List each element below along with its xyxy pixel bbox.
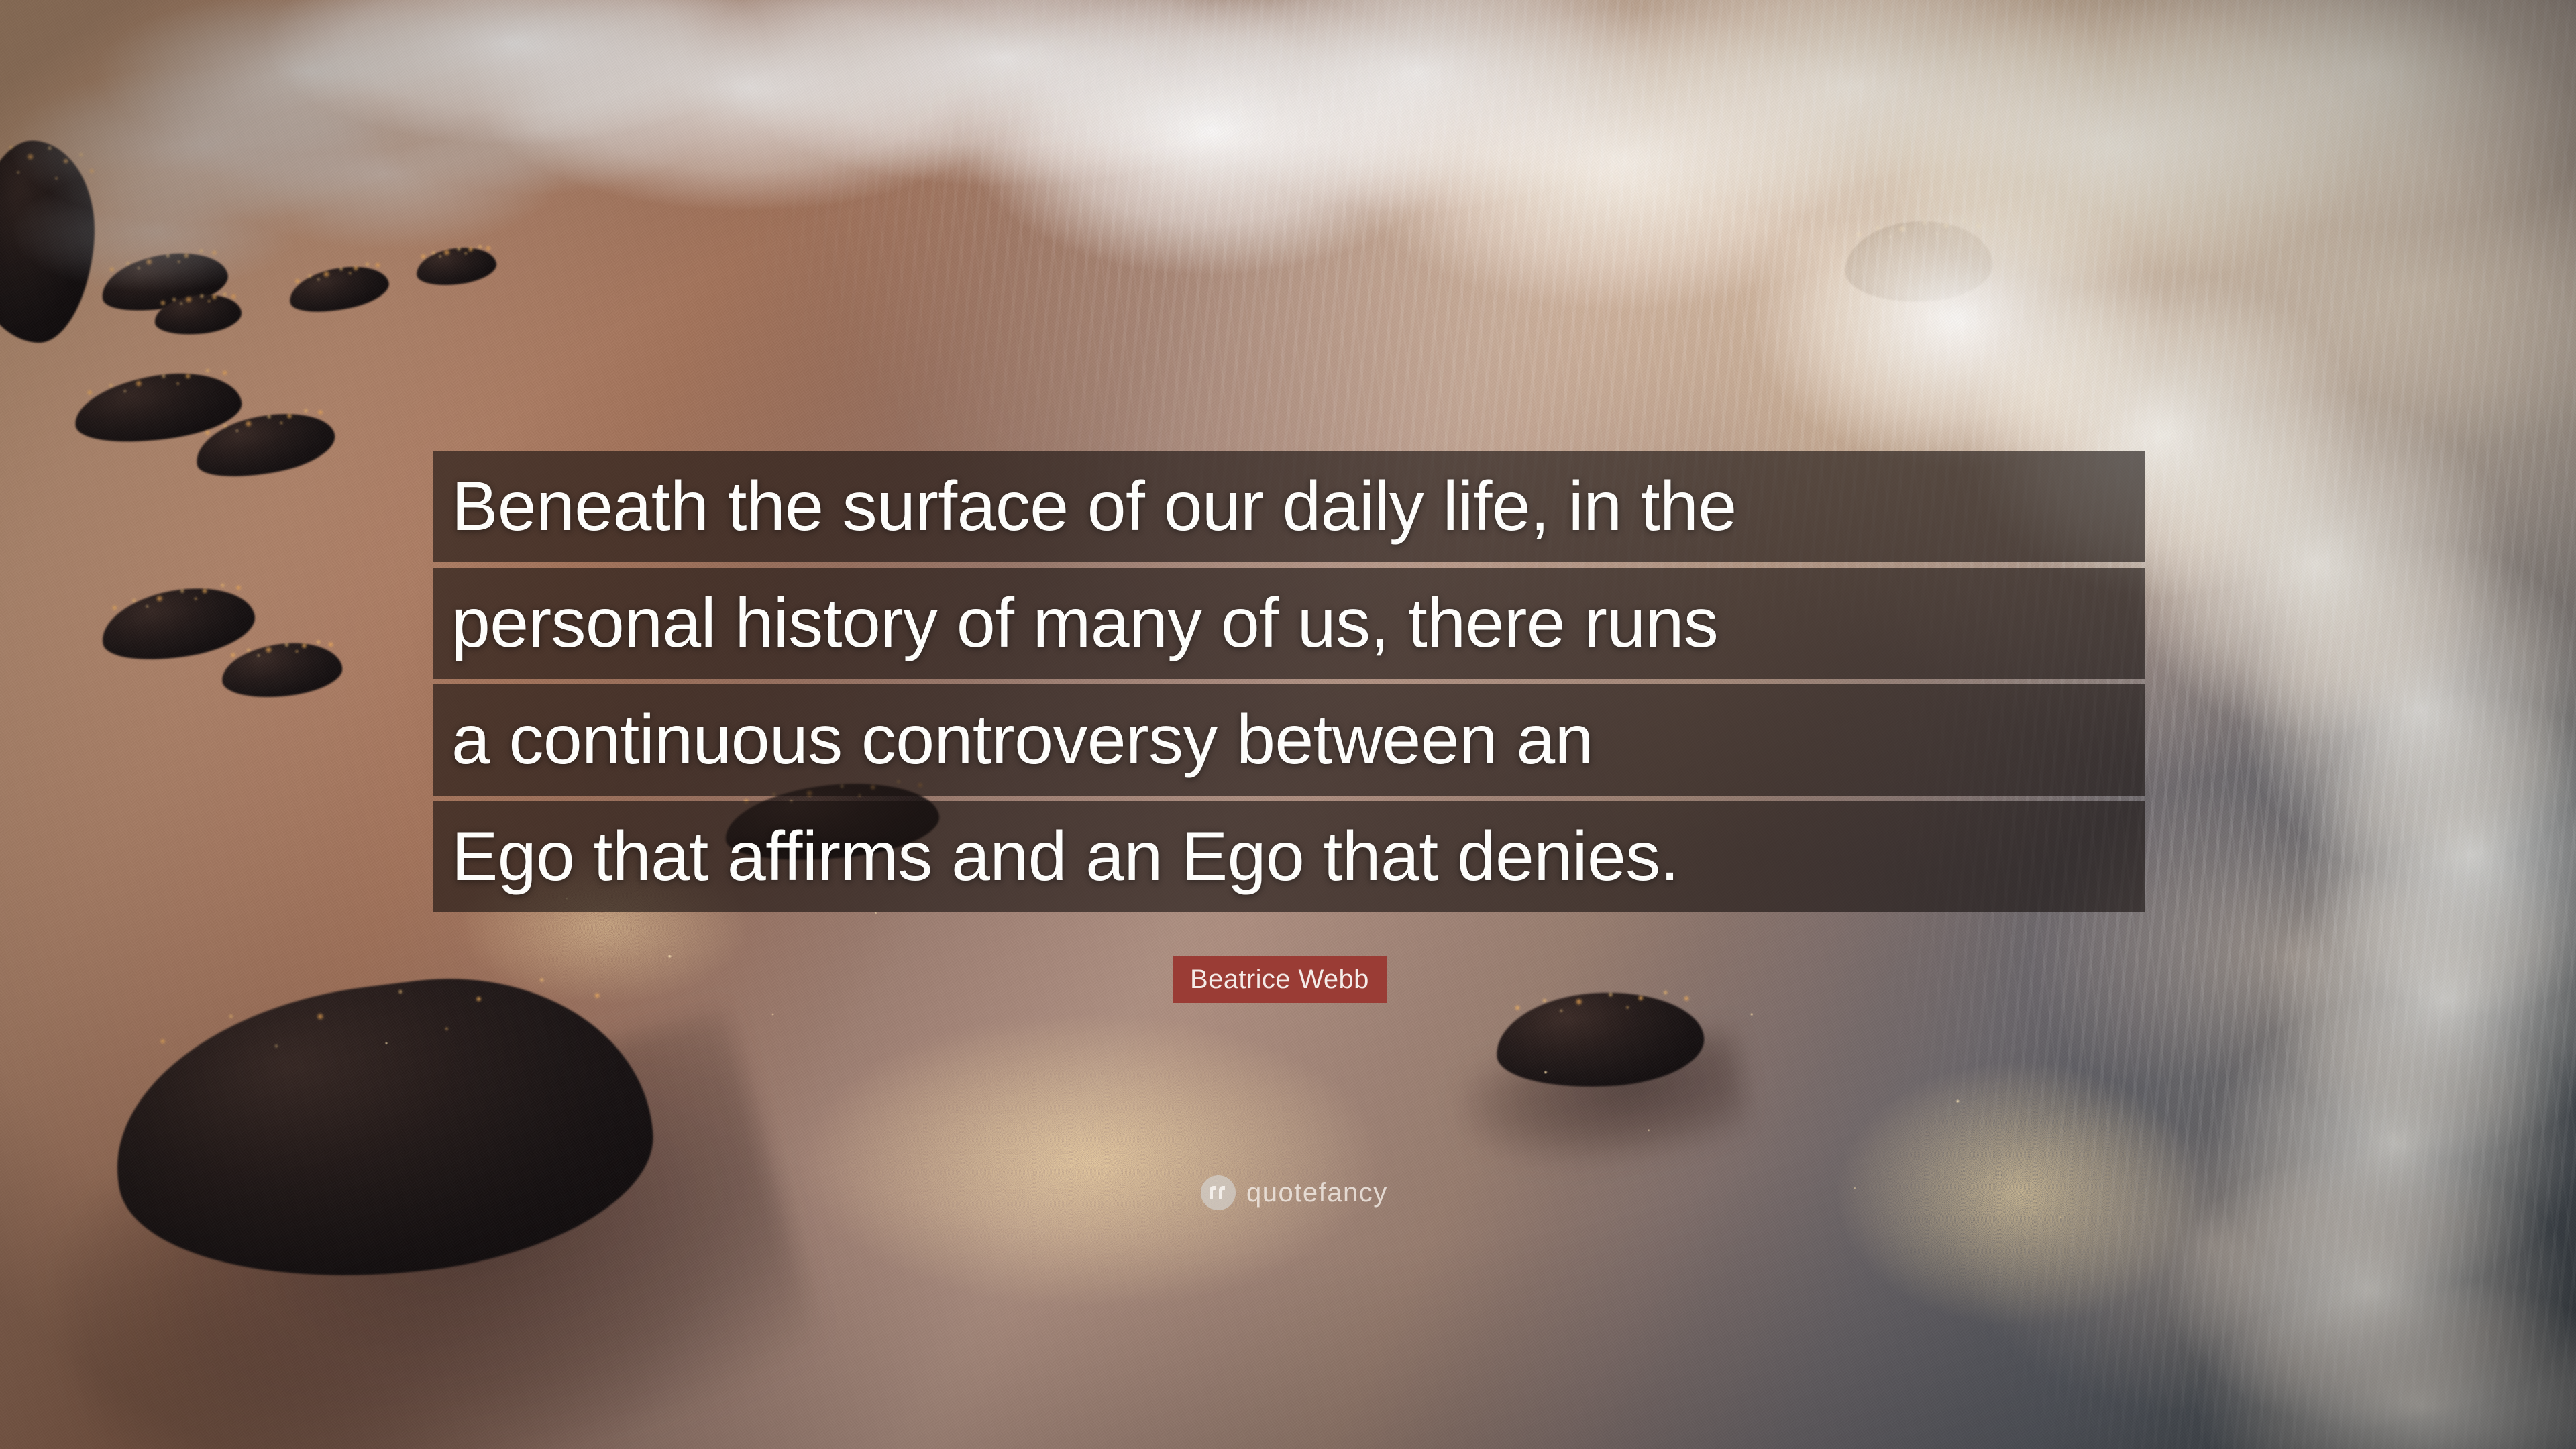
quote-line-3: a continuous controversy between an xyxy=(433,684,2145,796)
sparkle-field-right xyxy=(1778,1020,2261,1368)
quotefancy-brand-label: quotefancy xyxy=(1246,1178,1388,1208)
author-attribution-badge: Beatrice Webb xyxy=(1173,956,1387,1003)
quotefancy-watermark[interactable]: quotefancy xyxy=(1201,1175,1388,1210)
quote-line-1: Beneath the surface of our daily life, i… xyxy=(433,451,2145,562)
quote-text-block: Beneath the surface of our daily life, i… xyxy=(433,451,2145,912)
quote-line-2: personal history of many of us, there ru… xyxy=(433,568,2145,679)
quote-poster: Beneath the surface of our daily life, i… xyxy=(0,0,2576,1449)
quote-line-4: Ego that affirms and an Ego that denies. xyxy=(433,801,2145,912)
quote-mark-icon xyxy=(1201,1175,1236,1210)
sparkle-field-center xyxy=(704,973,1476,1348)
